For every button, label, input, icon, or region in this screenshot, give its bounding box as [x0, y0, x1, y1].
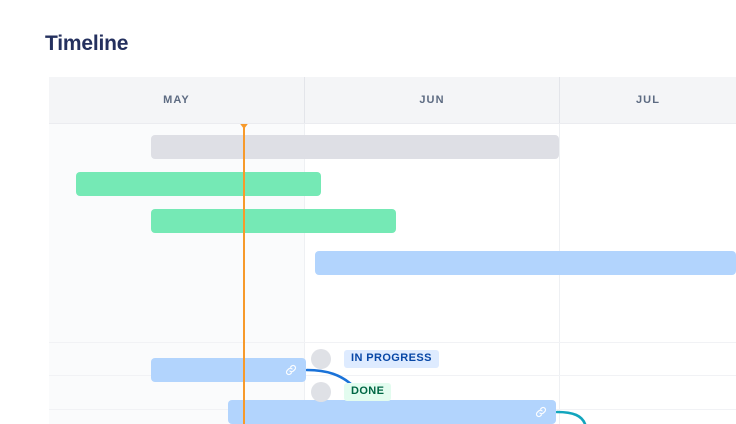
timeline-page: Timeline MAY JUN JUL IN PROGRESSDON	[0, 0, 736, 424]
status-badge[interactable]: IN PROGRESS	[344, 350, 439, 368]
month-column-jul[interactable]: JUL	[559, 77, 736, 123]
avatar[interactable]	[311, 349, 331, 369]
link-icon[interactable]	[284, 363, 298, 377]
task-bar-done[interactable]	[76, 172, 321, 196]
task-bar-in-progress[interactable]	[151, 358, 306, 382]
status-row-2: DONE	[311, 382, 391, 402]
month-column-may[interactable]: MAY	[49, 77, 304, 123]
link-icon[interactable]	[534, 405, 548, 419]
today-marker-line[interactable]	[243, 124, 245, 424]
avatar[interactable]	[311, 382, 331, 402]
timeline-body[interactable]: IN PROGRESSDONE	[49, 124, 736, 424]
connector-bar6-next	[557, 412, 585, 424]
task-bar-in-progress[interactable]	[315, 251, 736, 275]
status-row-1: IN PROGRESS	[311, 349, 439, 369]
timeline-gantt[interactable]: MAY JUN JUL IN PROGRESSDONE	[49, 77, 736, 424]
page-title: Timeline	[45, 31, 128, 57]
task-bar-todo[interactable]	[151, 135, 559, 159]
task-bar-in-progress[interactable]	[228, 400, 556, 424]
timeline-header: MAY JUN JUL	[49, 77, 736, 124]
month-column-jun[interactable]: JUN	[304, 77, 559, 123]
task-bar-done[interactable]	[151, 209, 396, 233]
row-separator-1	[49, 342, 736, 343]
status-badge[interactable]: DONE	[344, 383, 391, 401]
